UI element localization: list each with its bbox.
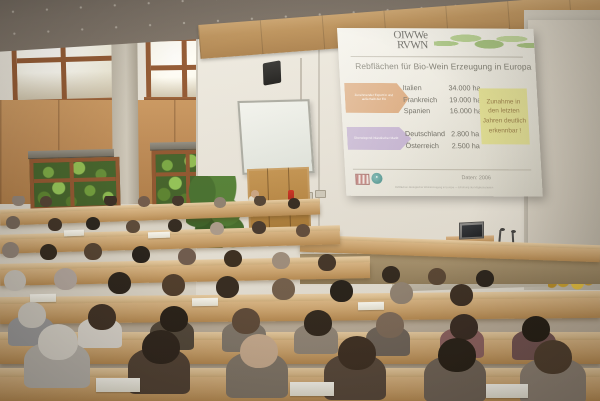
slide-emblem-striped-icon (355, 174, 370, 185)
handout-paper (486, 384, 528, 398)
audience-head (450, 314, 478, 340)
slide-callout-box: Zunahme in den letzten Jahren deutlich e… (479, 88, 530, 144)
audience-head (214, 197, 226, 208)
audience-head (252, 221, 266, 234)
country-name: Spanien (403, 106, 450, 115)
audience-head (224, 250, 242, 267)
audience-head (376, 312, 404, 338)
slide-emblem-circular-icon: • (371, 173, 383, 184)
country-name: Frankreich (403, 95, 450, 104)
audience-head (86, 217, 100, 230)
country-name: Österreich (405, 141, 452, 150)
handout-paper (30, 294, 56, 302)
handout-paper (358, 302, 384, 310)
audience-head (162, 274, 185, 296)
country-name: Deutschland (405, 129, 452, 138)
audience-head (2, 242, 19, 258)
slide-footnote: Rebflächen ökologischer Weinerzeugung in… (364, 187, 524, 190)
audience-head (296, 224, 310, 237)
audience-seating (0, 196, 600, 401)
slide-divider-bottom (353, 169, 531, 171)
audience-head-foreground (338, 336, 376, 370)
handout-paper (64, 230, 84, 237)
ceiling-loudspeaker (263, 60, 282, 85)
audience-head (216, 276, 239, 298)
audience-head (288, 198, 300, 209)
audience-head (304, 310, 332, 336)
audience-head (254, 196, 266, 206)
slide-source: Daten: 2006 (461, 175, 491, 181)
audience-head (12, 196, 25, 206)
audience-head (132, 246, 150, 263)
handout-paper (96, 378, 140, 392)
audience-head (54, 268, 77, 290)
audience-head (428, 268, 446, 285)
audience-head (40, 196, 52, 207)
audience-head (40, 244, 57, 260)
audience-head (88, 304, 116, 330)
audience-head-foreground (240, 334, 278, 368)
audience-head (48, 218, 62, 231)
audience-head (126, 220, 140, 233)
audience-head (382, 266, 400, 283)
audience-head (160, 306, 188, 332)
audience-head (178, 248, 196, 265)
audience-head (104, 196, 117, 206)
audience-head-foreground (38, 324, 78, 360)
audience-head (390, 282, 413, 304)
audience-head (4, 270, 26, 291)
audience-head (18, 302, 46, 328)
audience-head (330, 280, 353, 302)
audience-head (272, 252, 290, 269)
audience-head (210, 222, 224, 235)
audience-head-foreground (142, 330, 180, 364)
audience-head (108, 272, 131, 294)
handout-paper (290, 382, 334, 396)
country-name: Italien (402, 83, 449, 92)
handout-paper (148, 232, 170, 239)
audience-head (138, 196, 150, 207)
audience-head (232, 308, 260, 334)
audience-head (84, 243, 102, 260)
audience-head (272, 278, 295, 300)
slide-divider-top (351, 56, 523, 58)
audience-head (522, 316, 550, 342)
audience-head (476, 270, 494, 287)
lecture-hall-photo: OIWWe RVWN Rebflächen für Bio-Wein Erzeu… (0, 0, 600, 401)
slide-logo-line2: RVWN (397, 41, 449, 51)
slide-tag-domestic-market: Überwiegend inländischer Markt (347, 127, 412, 150)
audience-head (318, 254, 336, 271)
projection-screen: OIWWe RVWN Rebflächen für Bio-Wein Erzeu… (337, 28, 543, 196)
audience-head (6, 216, 20, 229)
slide-tag-export: Zunehmender Export in und außerhalb der … (344, 83, 410, 113)
audience-head-foreground (534, 340, 572, 374)
slide-title: Rebflächen für Bio-Wein Erzeugung in Eur… (355, 61, 528, 72)
handout-paper (192, 298, 218, 306)
slide-logo: OIWWe RVWN (393, 31, 448, 53)
audience-head (168, 219, 182, 232)
audience-head (450, 284, 473, 306)
audience-head-foreground (438, 338, 476, 372)
audience-head (172, 196, 184, 206)
whiteboard[interactable] (237, 99, 314, 175)
